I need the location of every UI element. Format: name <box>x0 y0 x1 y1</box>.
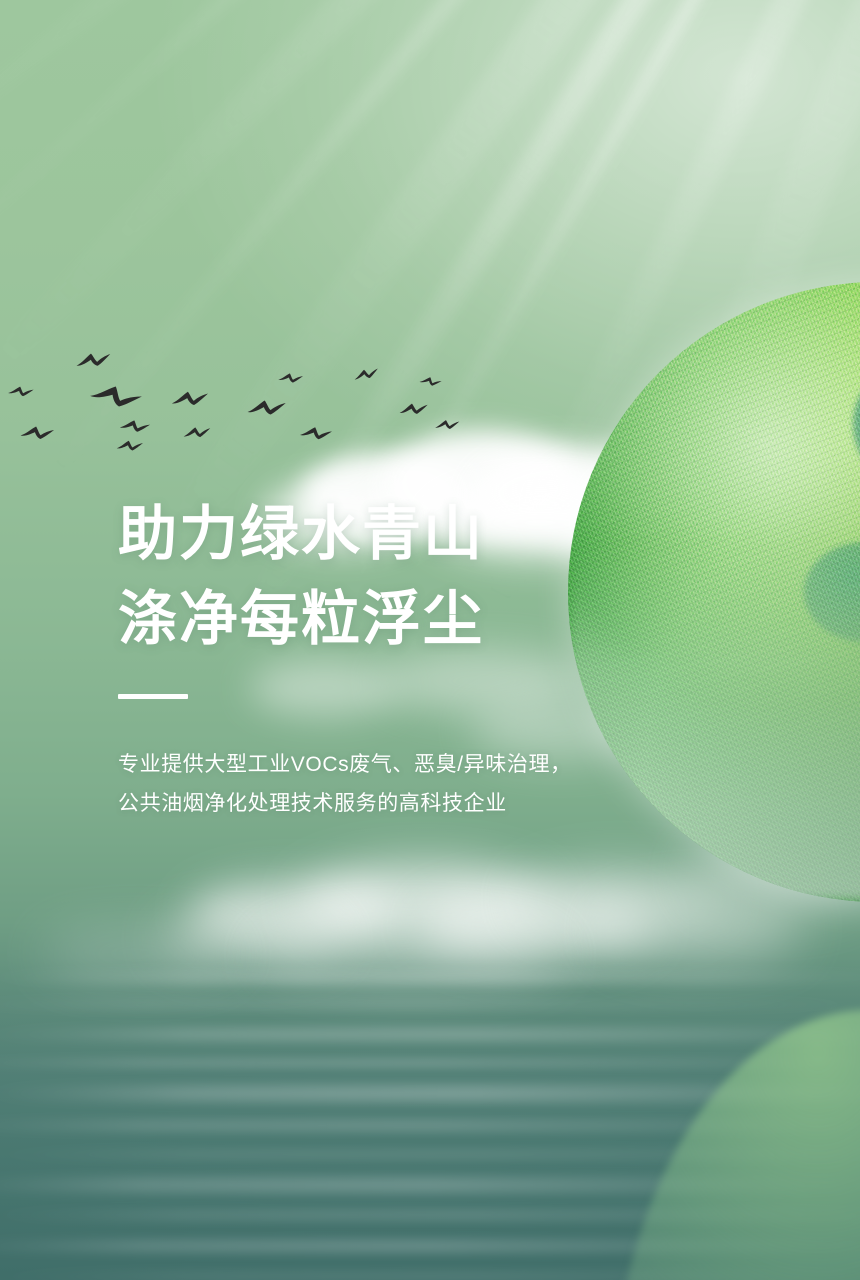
bird-icon <box>19 425 56 441</box>
mist-wisp <box>160 912 340 964</box>
sun-rays <box>0 0 860 980</box>
subtitle-line-1: 专业提供大型工业VOCs废气、恶臭/异味治理， <box>118 745 678 784</box>
bird-icon <box>418 375 443 388</box>
globe-water-reflection <box>610 1010 860 1280</box>
water-wave <box>0 1241 860 1251</box>
bird-icon <box>434 419 461 432</box>
mist-wisp <box>520 868 720 930</box>
water-wave <box>0 1001 860 1008</box>
bird-icon <box>119 418 153 435</box>
continent-blob <box>853 344 860 505</box>
water-depth-shade <box>0 955 860 1280</box>
bird-icon <box>74 350 114 371</box>
water-wave <box>0 1273 860 1280</box>
bird-icon <box>170 389 211 409</box>
water-wave <box>0 973 860 982</box>
poster-canvas: 助力绿水青山 涤净每粒浮尘 专业提供大型工业VOCs废气、恶臭/异味治理， 公共… <box>0 0 860 1280</box>
water-wave <box>0 1151 860 1158</box>
bird-icon <box>182 425 213 441</box>
water-wave <box>0 1029 860 1040</box>
sun-ray <box>0 0 652 321</box>
mist-wisp <box>260 930 560 980</box>
bird-icon <box>277 372 304 385</box>
bird-icon <box>7 385 35 398</box>
sun-ray <box>42 0 776 484</box>
water-wave <box>0 1059 860 1067</box>
headline-line-2: 涤净每粒浮尘 <box>118 577 678 662</box>
bird-icon <box>299 425 334 442</box>
hero-text-block: 助力绿水青山 涤净每粒浮尘 专业提供大型工业VOCs废气、恶臭/异味治理， 公共… <box>118 492 678 823</box>
mist-wisp <box>300 862 550 940</box>
sun-ray <box>148 0 860 564</box>
mist-wisp <box>190 880 400 944</box>
continent-blob <box>804 542 860 641</box>
subtitle-line-2: 公共油烟净化处理技术服务的高科技企业 <box>118 784 678 823</box>
sun-ray <box>0 0 598 244</box>
bird-icon <box>398 401 430 417</box>
mist-wisp <box>600 900 800 960</box>
water-wave <box>0 1211 860 1219</box>
water-wave <box>0 1179 860 1191</box>
headline-line-1: 助力绿水青山 <box>118 492 678 577</box>
divider-rule <box>118 694 188 699</box>
sun-ray <box>0 0 729 409</box>
mist-wisp <box>40 930 240 976</box>
bird-icon <box>352 365 381 383</box>
reflection-texture <box>610 1010 860 1280</box>
bird-icon <box>116 440 145 452</box>
mist-wisp <box>420 890 650 960</box>
water-wave <box>0 1121 860 1130</box>
mist-wisp <box>690 840 860 910</box>
bird-icon <box>246 399 288 418</box>
water-wave <box>0 1087 860 1100</box>
bird-icon <box>87 380 146 414</box>
water-surface <box>0 955 860 1280</box>
